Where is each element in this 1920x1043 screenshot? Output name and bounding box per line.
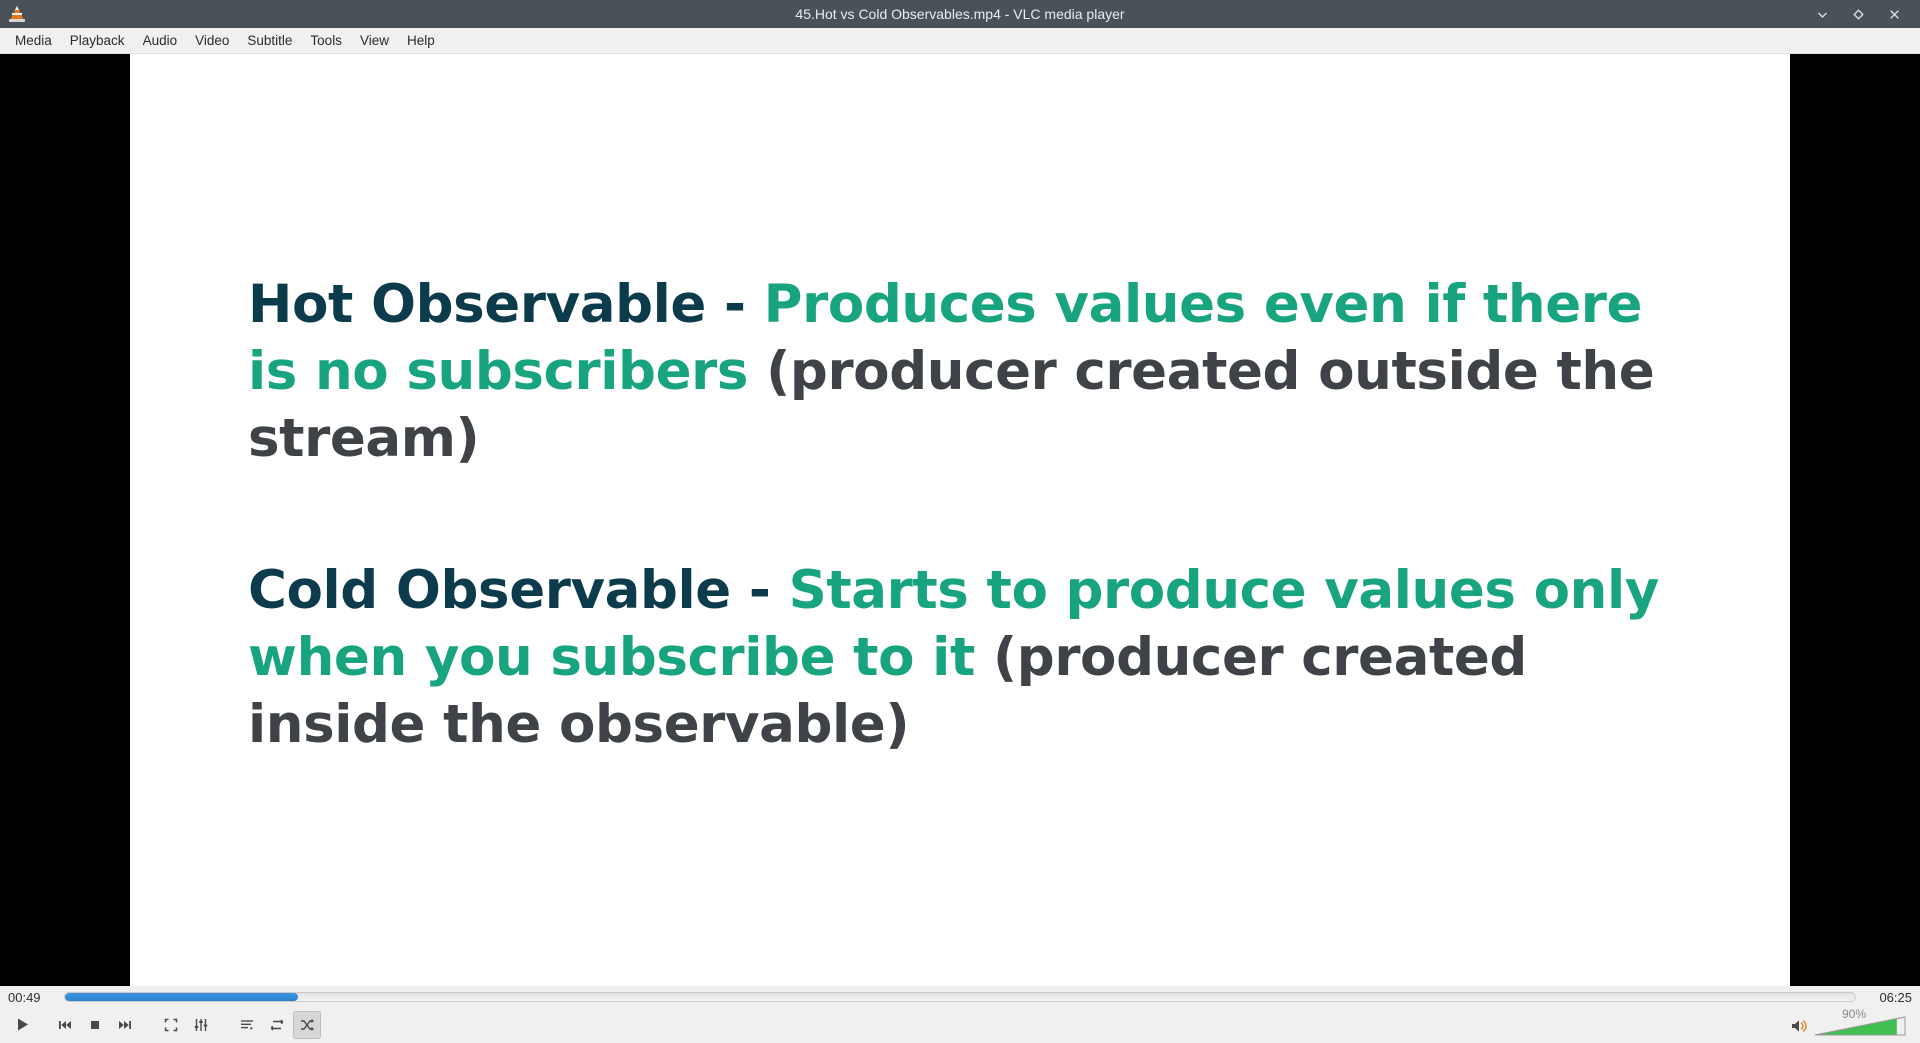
window-title: 45.Hot vs Cold Observables.mp4 - VLC med… — [0, 0, 1920, 28]
menu-item-video[interactable]: Video — [186, 30, 238, 51]
menu-item-media[interactable]: Media — [6, 30, 61, 51]
vlc-window: 45.Hot vs Cold Observables.mp4 - VLC med… — [0, 0, 1920, 1043]
random-button[interactable] — [293, 1011, 321, 1039]
seek-slider[interactable] — [64, 992, 1856, 1002]
total-duration: 06:25 — [1866, 990, 1912, 1005]
seek-progress-fill — [65, 993, 298, 1001]
hot-observable-paragraph: Hot Observable - Produces values even if… — [248, 272, 1678, 472]
stop-button[interactable] — [81, 1011, 109, 1039]
previous-button[interactable] — [51, 1011, 79, 1039]
slide-content: Hot Observable - Produces values even if… — [130, 54, 1790, 986]
seek-row: 00:49 06:25 — [0, 986, 1920, 1008]
minimize-button[interactable] — [1814, 6, 1830, 22]
play-button[interactable] — [6, 1008, 39, 1041]
fullscreen-button[interactable] — [157, 1011, 185, 1039]
cold-observable-term: Cold Observable — [248, 560, 731, 621]
video-surface[interactable]: Hot Observable - Produces values even if… — [0, 54, 1920, 986]
menu-item-audio[interactable]: Audio — [134, 30, 187, 51]
menu-bar: Media Playback Audio Video Subtitle Tool… — [0, 28, 1920, 54]
title-bar: 45.Hot vs Cold Observables.mp4 - VLC med… — [0, 0, 1920, 28]
volume-speaker-icon[interactable] — [1788, 1014, 1812, 1038]
volume-cluster: 90% — [1788, 1009, 1914, 1040]
window-controls — [1814, 6, 1914, 22]
menu-item-subtitle[interactable]: Subtitle — [238, 30, 301, 51]
extended-settings-button[interactable] — [187, 1011, 215, 1039]
elapsed-time: 00:49 — [8, 990, 54, 1005]
next-button[interactable] — [111, 1011, 139, 1039]
hot-observable-dash: - — [706, 274, 764, 335]
close-button[interactable] — [1886, 6, 1902, 22]
cold-observable-dash: - — [731, 560, 789, 621]
volume-level-triangle — [1814, 1016, 1906, 1036]
maximize-button[interactable] — [1850, 6, 1866, 22]
volume-slider[interactable]: 90% — [1812, 1009, 1908, 1040]
loop-button[interactable] — [263, 1011, 291, 1039]
cold-observable-paragraph: Cold Observable - Starts to produce valu… — [248, 558, 1678, 758]
transport-row: 90% — [0, 1008, 1920, 1043]
vlc-cone-icon — [8, 5, 26, 23]
hot-observable-term: Hot Observable — [248, 274, 706, 335]
menu-item-view[interactable]: View — [351, 30, 398, 51]
menu-item-help[interactable]: Help — [398, 30, 444, 51]
control-bar: 00:49 06:25 — [0, 986, 1920, 1043]
menu-item-tools[interactable]: Tools — [301, 30, 351, 51]
playlist-button[interactable] — [233, 1011, 261, 1039]
menu-item-playback[interactable]: Playback — [61, 30, 134, 51]
